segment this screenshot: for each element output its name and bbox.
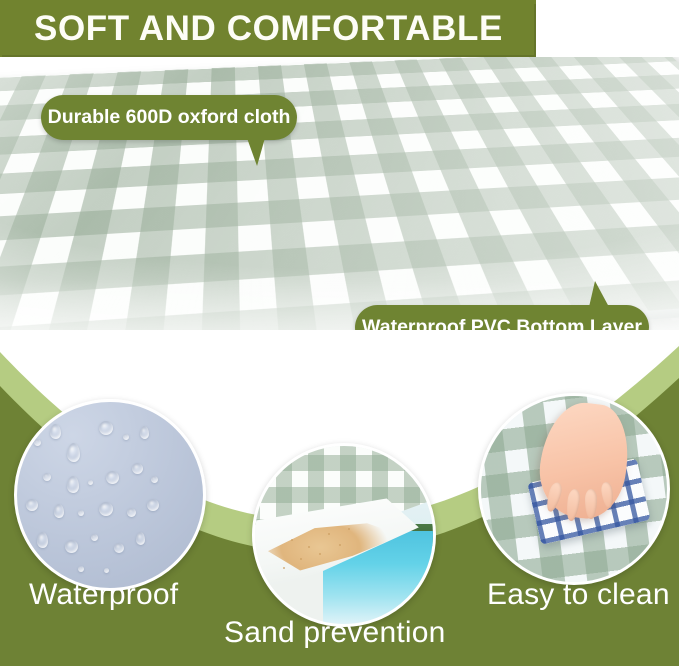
sand-grain: [291, 539, 293, 541]
water-drop-icon: [78, 510, 84, 516]
callout-pvc-pointer: [589, 281, 609, 307]
water-drop-icon: [91, 534, 98, 541]
feature-image-easy-to-clean: [478, 393, 670, 585]
feature-image-waterproof: [14, 399, 206, 591]
water-drop-icon: [151, 476, 158, 483]
water-drop-icon: [26, 499, 38, 511]
water-drop-icon: [67, 443, 80, 462]
feature-label-waterproof: Waterproof: [29, 578, 178, 612]
feature-image-sand-prevention: [252, 443, 436, 627]
water-drop-icon: [34, 439, 41, 446]
water-drop-icon: [50, 424, 61, 439]
water-drop-icon: [136, 532, 145, 545]
header-banner: SOFT AND COMFORTABLE: [0, 0, 536, 57]
infographic-root: SOFT AND COMFORTABLE Durable 600D oxford…: [0, 0, 679, 666]
water-drop-icon: [67, 476, 79, 493]
water-drop-icon: [37, 532, 48, 548]
water-drop-icon: [114, 543, 124, 553]
water-drop-icon: [88, 480, 93, 485]
water-drop-icon: [132, 463, 143, 474]
sand-grain: [339, 544, 341, 546]
water-drop-icon: [43, 473, 51, 481]
water-drop-icon: [147, 499, 159, 511]
callout-oxford-cloth: Durable 600D oxford cloth: [41, 95, 297, 140]
water-drop-icon: [99, 421, 113, 435]
water-drop-icon: [99, 502, 113, 516]
page-title: SOFT AND COMFORTABLE: [34, 6, 524, 52]
sand-grain: [300, 558, 302, 560]
water-drop-icon: [123, 434, 129, 440]
water-drop-icon: [54, 504, 64, 518]
callout-oxford-label: Durable 600D oxford cloth: [48, 106, 291, 129]
feature-label-easy-to-clean: Easy to clean: [487, 578, 670, 612]
sand-grain: [319, 553, 321, 555]
water-drop-icon: [78, 566, 84, 572]
sand-grain: [348, 528, 350, 530]
water-drop-icon: [127, 508, 136, 517]
water-drop-icon: [106, 471, 119, 484]
water-drop-icon: [65, 540, 78, 553]
feature-label-sand-prevention: Sand prevention: [224, 616, 446, 650]
water-drop-icon: [140, 426, 149, 439]
water-drop-icon: [104, 568, 109, 573]
